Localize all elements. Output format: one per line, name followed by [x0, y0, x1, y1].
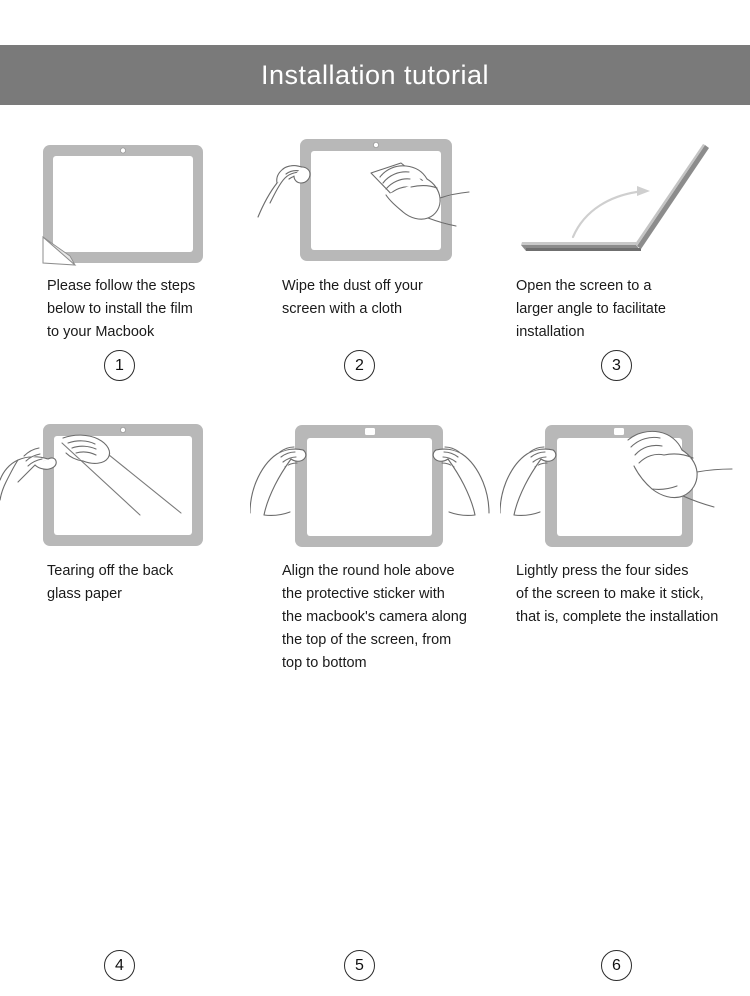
caption-line: of the screen to make it stick,	[516, 583, 744, 606]
step-4-badge-row: 4	[0, 950, 250, 996]
step-6-illustration	[500, 410, 750, 560]
step-5-illustration	[250, 410, 500, 560]
step-5-caption: Align the round hole above the protectiv…	[250, 560, 500, 675]
caption-line: larger angle to facilitate	[516, 298, 744, 321]
step-5-badge-row: 5	[250, 950, 500, 996]
step-number-badge: 6	[601, 950, 632, 981]
caption-line: the top of the screen, from	[282, 629, 492, 652]
caption-line: Wipe the dust off your	[282, 275, 492, 298]
page-title: Installation tutorial	[261, 60, 489, 91]
step-card-2: Wipe the dust off your screen with a clo…	[250, 125, 500, 321]
caption-line: to your Macbook	[47, 321, 240, 344]
step-card-5: Align the round hole above the protectiv…	[250, 410, 500, 675]
hand-tearing-back-film-icon	[0, 424, 203, 546]
caption-line: installation	[516, 321, 744, 344]
step-card-3: Open the screen to a larger angle to fac…	[500, 125, 750, 344]
step-4-illustration	[0, 410, 250, 560]
step-3-illustration	[500, 125, 750, 275]
step-card-4: Tearing off the back glass paper 4	[0, 410, 250, 606]
palm-pressing-screen-edges-icon	[500, 425, 732, 547]
step-number-badge: 4	[104, 950, 135, 981]
step-3-caption: Open the screen to a larger angle to fac…	[500, 275, 750, 344]
step-number-badge: 2	[344, 350, 375, 381]
caption-line: that is, complete the installation	[516, 606, 744, 629]
step-6-caption: Lightly press the four sides of the scre…	[500, 560, 750, 629]
step-card-1: Please follow the steps below to install…	[0, 125, 250, 344]
caption-line: top to bottom	[282, 652, 492, 675]
step-1-caption: Please follow the steps below to install…	[0, 275, 250, 344]
step-2-illustration	[250, 125, 500, 275]
step-number-badge: 5	[344, 950, 375, 981]
caption-line: below to install the film	[47, 298, 240, 321]
hand-wiping-screen-with-cloth-icon	[258, 139, 469, 261]
steps-grid: Please follow the steps below to install…	[0, 125, 750, 725]
caption-line: Tearing off the back	[47, 560, 240, 583]
step-3-badge-row: 3	[500, 350, 750, 396]
two-hands-aligning-film-icon	[250, 425, 489, 547]
step-1-illustration	[0, 125, 250, 275]
caption-line: Lightly press the four sides	[516, 560, 744, 583]
caption-line: Align the round hole above	[282, 560, 492, 583]
screen-with-peeling-corner-icon	[43, 145, 203, 265]
header-banner: Installation tutorial	[0, 45, 750, 105]
caption-line: the macbook's camera along	[282, 606, 492, 629]
caption-line: Please follow the steps	[47, 275, 240, 298]
caption-line: screen with a cloth	[282, 298, 492, 321]
step-number-badge: 1	[104, 350, 135, 381]
step-4-caption: Tearing off the back glass paper	[0, 560, 250, 606]
installation-tutorial-page: Installation tutorial Please follow the …	[0, 0, 750, 750]
step-6-badge-row: 6	[500, 950, 750, 996]
caption-line: Open the screen to a	[516, 275, 744, 298]
step-1-badge-row: 1	[0, 350, 250, 396]
caption-line: glass paper	[47, 583, 240, 606]
step-number-badge: 3	[601, 350, 632, 381]
step-2-caption: Wipe the dust off your screen with a clo…	[250, 275, 500, 321]
caption-line: the protective sticker with	[282, 583, 492, 606]
step-card-6: Lightly press the four sides of the scre…	[500, 410, 750, 629]
step-2-badge-row: 2	[250, 350, 500, 396]
laptop-open-angle-arrow-icon	[521, 144, 709, 251]
